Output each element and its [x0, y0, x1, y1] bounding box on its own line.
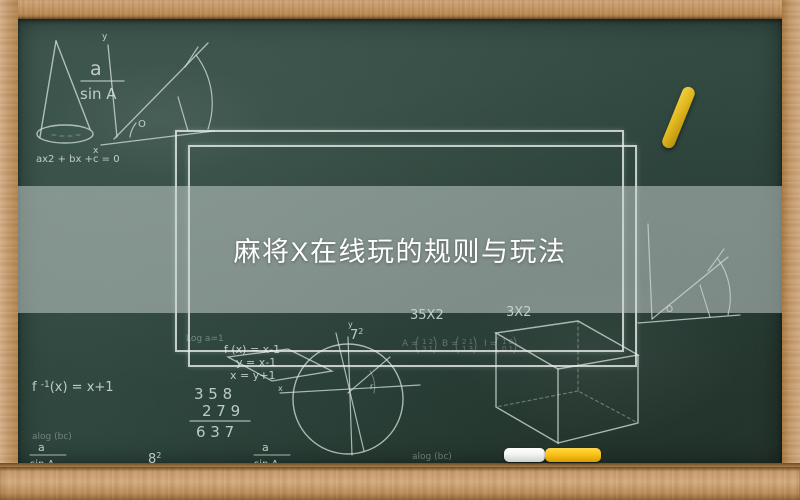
angle-label: O [138, 119, 146, 130]
axis-label-x: x [93, 146, 99, 156]
sum-row-2: 2 7 9 [202, 402, 240, 420]
sum-row-1: 3 5 8 [194, 385, 232, 403]
frame-top-rail [0, 0, 800, 19]
circle-axis-x: x [278, 384, 283, 393]
bottom-a-1: a [38, 441, 45, 454]
page-title: 麻将X在线玩的规则与玩法 [233, 230, 566, 269]
formula-quadratic: ax2 + bx +c = 0 [36, 154, 120, 165]
frame-left-rail [0, 0, 18, 500]
sum-result: 6 3 7 [196, 423, 234, 441]
axis-label-y: y [102, 32, 108, 42]
column-addition: 3 5 8 2 7 9 6 3 7 [190, 385, 250, 441]
yellow-chalk-icon [545, 448, 601, 462]
circle-angle: r [370, 382, 374, 391]
title-overlay-band: 麻将X在线玩的规则与玩法 [0, 186, 800, 313]
formula-inverse: f -1(x) = x+1 [32, 380, 114, 395]
label-8-squared: 82 [148, 451, 161, 463]
chalkboard-banner: a sin A ax2 + bx +c = 0 y x O [0, 0, 800, 500]
frame-right-rail [782, 0, 800, 500]
chalk-ledge [0, 467, 800, 500]
white-chalk-icon [504, 448, 545, 462]
bottom-a-2: a [262, 441, 269, 454]
formula-a: a [90, 58, 102, 80]
bottom-alog: alog (bc) [412, 452, 452, 462]
